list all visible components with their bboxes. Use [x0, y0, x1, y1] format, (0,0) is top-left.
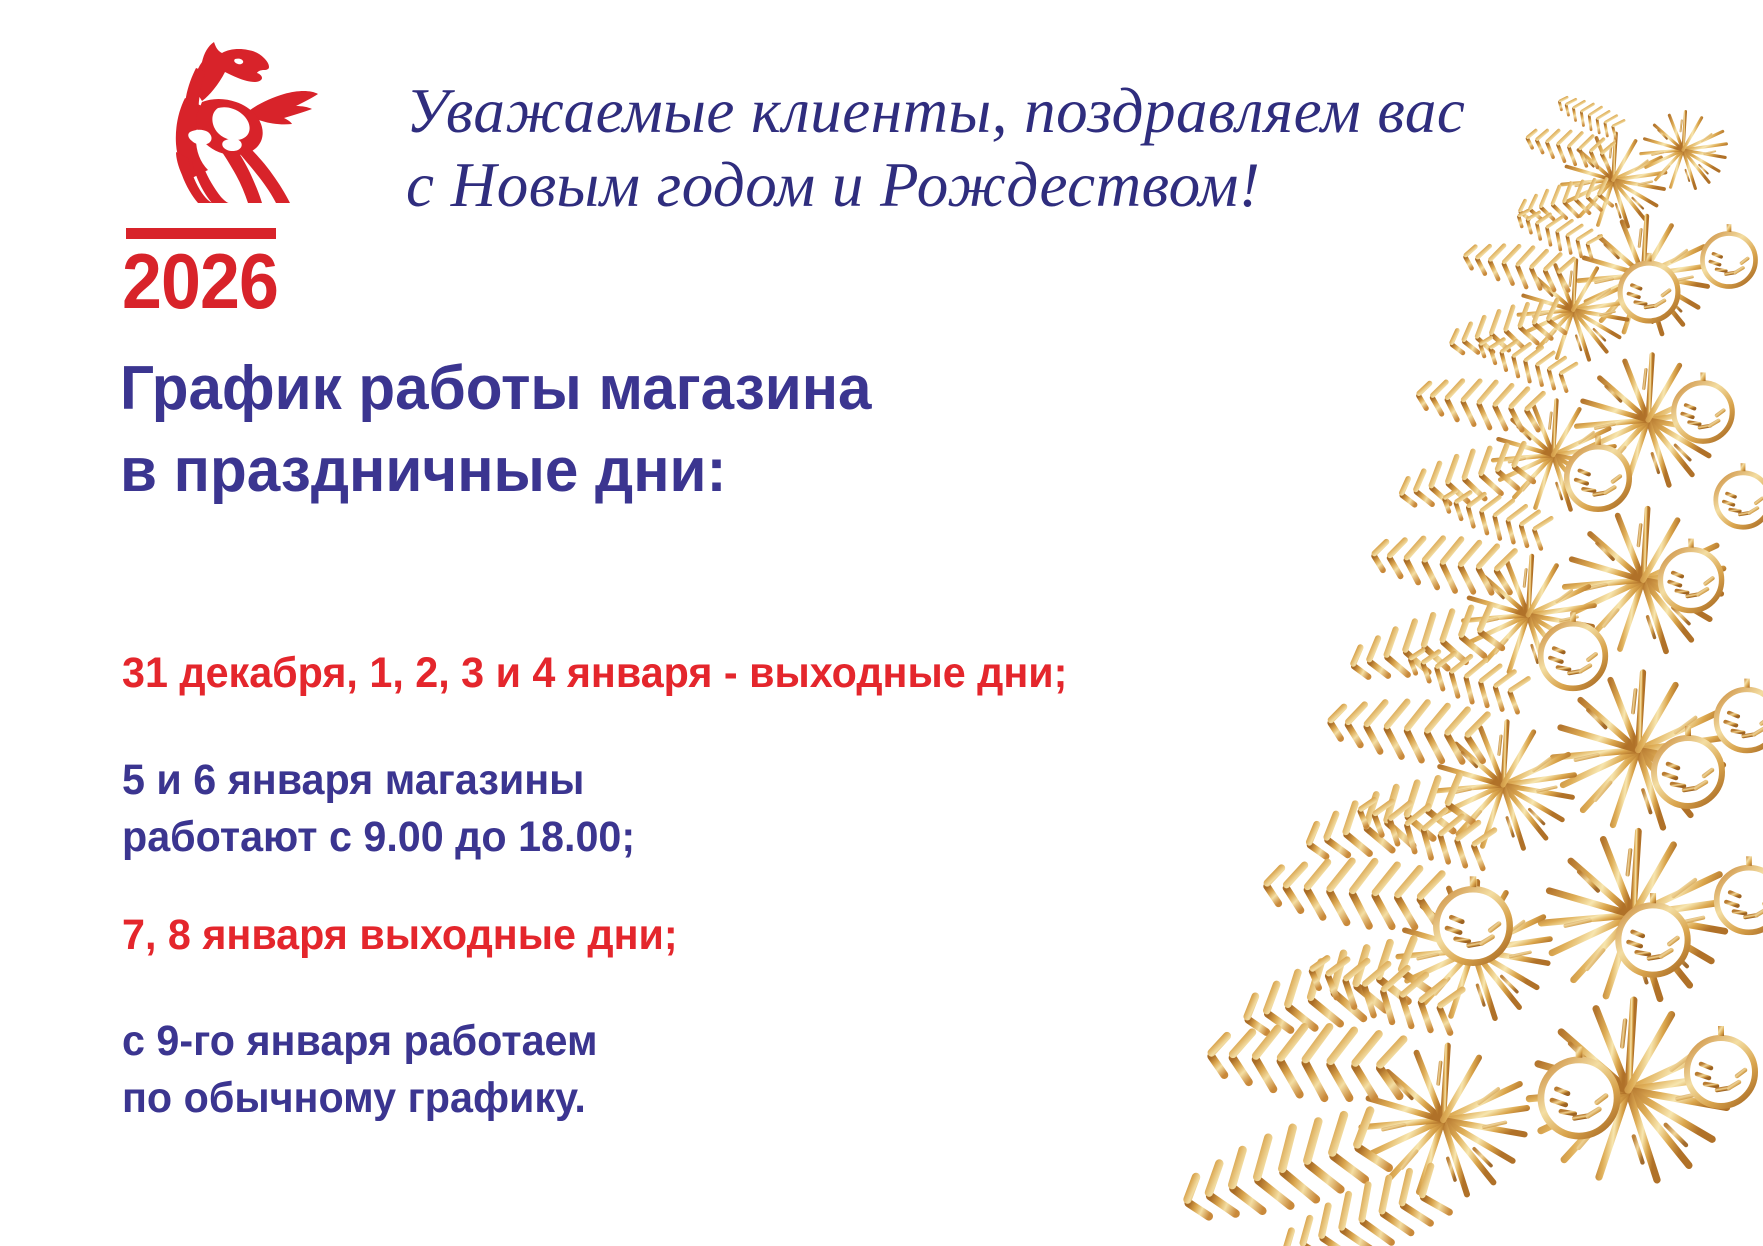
- schedule-item: 5 и 6 января магазины работают с 9.00 до…: [122, 752, 635, 866]
- schedule-item: с 9-го января работаем по обычному графи…: [122, 1013, 598, 1127]
- schedule-item-line: 7, 8 января выходные дни;: [122, 907, 678, 964]
- christmas-tree-icon: [1143, 60, 1763, 1246]
- schedule-item-line: работают с 9.00 до 18.00;: [122, 809, 635, 866]
- schedule-item: 31 декабря, 1, 2, 3 и 4 января - выходны…: [122, 645, 1067, 702]
- schedule-item-line: по обычному графику.: [122, 1070, 598, 1127]
- schedule-item-line: 31 декабря, 1, 2, 3 и 4 января - выходны…: [122, 645, 1067, 702]
- holiday-schedule-poster: 2026 Уважаемые клиенты, поздравляем вас …: [0, 0, 1763, 1246]
- page-title-line-1: График работы магазина: [120, 348, 871, 430]
- schedule-item-line: с 9-го января работаем: [122, 1013, 598, 1070]
- page-title-line-2: в праздничные дни:: [120, 430, 871, 512]
- schedule-item: 7, 8 января выходные дни;: [122, 907, 678, 964]
- page-title: График работы магазина в праздничные дни…: [120, 348, 871, 512]
- greeting-line-1: Уважаемые клиенты, поздравляем вас: [406, 74, 1526, 148]
- logo-year: 2026: [122, 242, 278, 320]
- rearing-horse-icon: [130, 28, 320, 203]
- greeting-line-2: с Новым годом и Рождеством!: [406, 148, 1526, 222]
- greeting-message: Уважаемые клиенты, поздравляем вас с Нов…: [406, 74, 1526, 222]
- schedule-item-line: 5 и 6 января магазины: [122, 752, 635, 809]
- brand-logo: 2026: [122, 28, 352, 293]
